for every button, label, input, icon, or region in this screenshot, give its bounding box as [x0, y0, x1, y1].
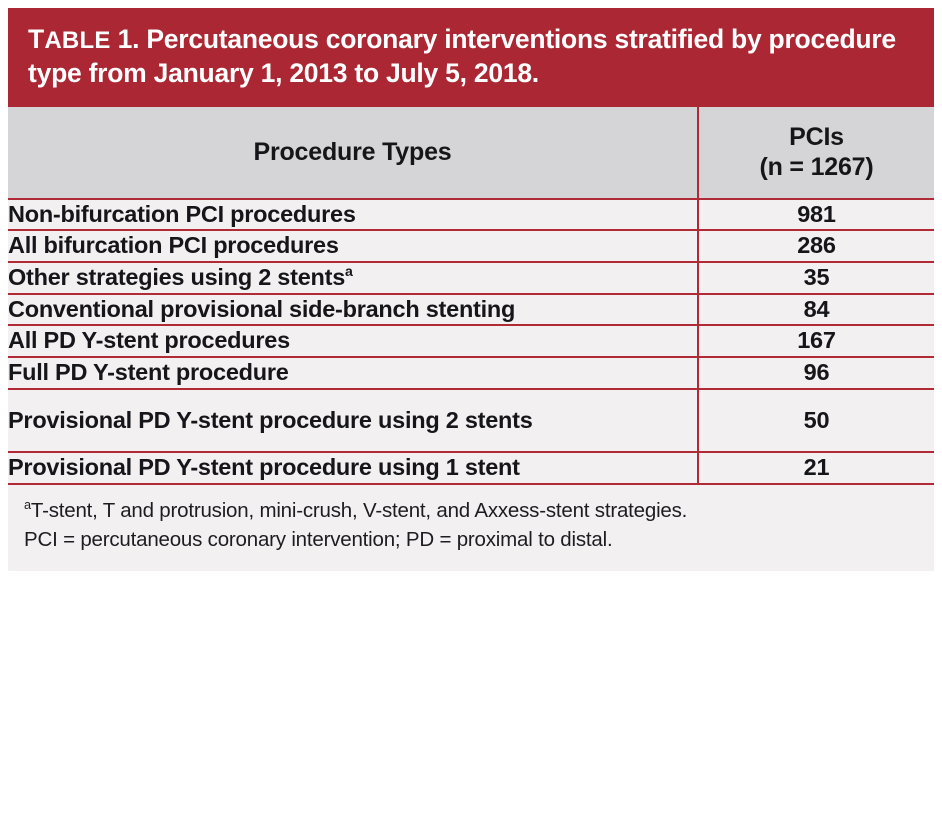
row-value: 21 [698, 452, 934, 483]
row-label-text: Other strategies using 2 stents [8, 264, 345, 290]
row-label: Conventional provisional side-branch ste… [8, 294, 698, 326]
row-value: 50 [698, 389, 934, 453]
row-label: Other strategies using 2 stentsa [8, 262, 698, 294]
table-row: Full PD Y-stent procedure 96 [8, 357, 934, 389]
row-value: 167 [698, 325, 934, 357]
table-row: Non-bifurcation PCI procedures 981 [8, 199, 934, 231]
column-header-pcis-count: (n = 1267) [699, 152, 934, 182]
row-value: 35 [698, 262, 934, 294]
table-title-text: Percutaneous coronary interventions stra… [28, 24, 896, 88]
row-value: 981 [698, 199, 934, 231]
footnote-marker-icon: a [345, 263, 353, 279]
table-row: Conventional provisional side-branch ste… [8, 294, 934, 326]
table-label-smallcaps: ABLE [44, 27, 110, 54]
row-value: 96 [698, 357, 934, 389]
row-label: Provisional PD Y-stent procedure using 2… [8, 389, 698, 453]
table-body: Procedure Types PCIs(n = 1267) Non-bifur… [8, 107, 934, 483]
table-footnotes: aT-stent, T and protrusion, mini-crush, … [8, 485, 934, 571]
column-header-pcis-title: PCIs [789, 123, 844, 151]
table-label: TABLE [28, 27, 111, 54]
table-caption: TABLE 1. Percutaneous coronary intervent… [28, 22, 914, 91]
row-value: 286 [698, 230, 934, 262]
table-header-row: Procedure Types PCIs(n = 1267) [8, 107, 934, 199]
table-row: All PD Y-stent procedures 167 [8, 325, 934, 357]
data-table: Procedure Types PCIs(n = 1267) Non-bifur… [8, 107, 934, 483]
table-row: Provisional PD Y-stent procedure using 1… [8, 452, 934, 483]
row-label: All PD Y-stent procedures [8, 325, 698, 357]
footnote-a-text: T-stent, T and protrusion, mini-crush, V… [31, 499, 687, 522]
table-row: All bifurcation PCI procedures 286 [8, 230, 934, 262]
column-header-pcis: PCIs(n = 1267) [698, 107, 934, 199]
table-row: Provisional PD Y-stent procedure using 2… [8, 389, 934, 453]
row-label: All bifurcation PCI procedures [8, 230, 698, 262]
table-label-number: 1. [111, 24, 147, 54]
table-row: Other strategies using 2 stentsa 35 [8, 262, 934, 294]
row-label: Non-bifurcation PCI procedures [8, 199, 698, 231]
footnote-a: aT-stent, T and protrusion, mini-crush, … [24, 497, 920, 526]
row-label: Full PD Y-stent procedure [8, 357, 698, 389]
table-label-initial: T [28, 24, 44, 54]
footnote-abbreviations: PCI = percutaneous coronary intervention… [24, 526, 920, 555]
row-value: 84 [698, 294, 934, 326]
footnote-marker-a-icon: a [24, 497, 31, 512]
column-header-procedure-types: Procedure Types [8, 107, 698, 199]
table-figure: TABLE 1. Percutaneous coronary intervent… [0, 0, 942, 834]
table-title-bar: TABLE 1. Percutaneous coronary intervent… [8, 8, 934, 107]
row-label: Provisional PD Y-stent procedure using 1… [8, 452, 698, 483]
